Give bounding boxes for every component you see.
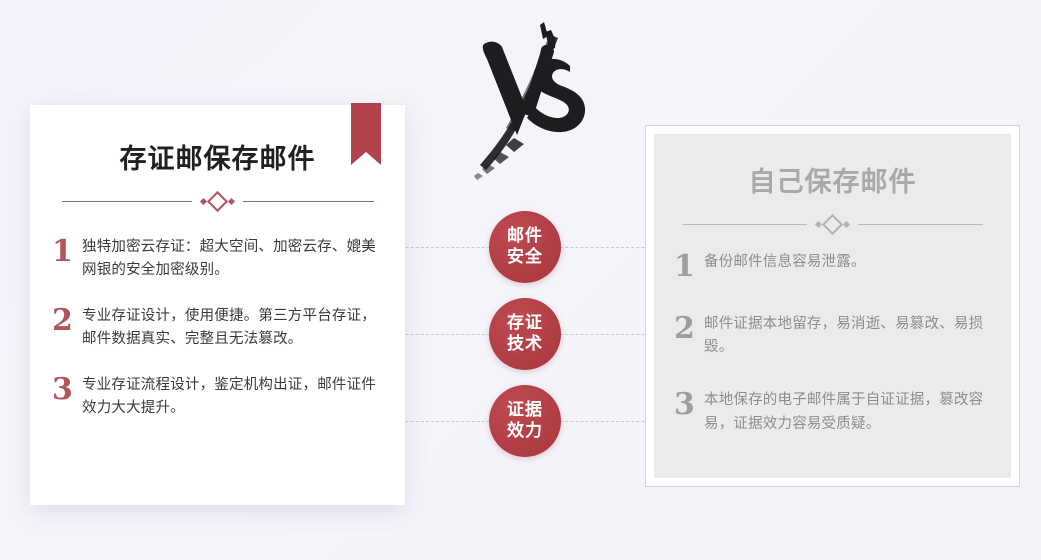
bullet-number: 3 bbox=[674, 389, 704, 421]
bullet-text: 独特加密云存证：超大空间、加密云存、媲美网银的安全加密级别。 bbox=[82, 236, 383, 283]
bullet-text: 专业存证设计，使用便捷。第三方平台存证，邮件数据真实、完整且无法篡改。 bbox=[82, 305, 383, 352]
diamond-small-icon bbox=[843, 220, 850, 227]
circle-label-line1: 证据 bbox=[507, 400, 543, 421]
list-item: 1 独特加密云存证：超大空间、加密云存、媲美网银的安全加密级别。 bbox=[52, 236, 383, 283]
circle-label-line1: 邮件 bbox=[507, 226, 543, 247]
bullet-text: 邮件证据本地留存，易消逝、易篡改、易损毁。 bbox=[704, 313, 989, 360]
list-item: 3 本地保存的电子邮件属于自证证据，篡改容易，证据效力容易受质疑。 bbox=[674, 389, 989, 436]
ornament-line-left bbox=[62, 201, 193, 202]
left-ornament-divider bbox=[62, 192, 374, 210]
center-circle-evidence-tech[interactable]: 存证 技术 bbox=[489, 298, 561, 370]
right-ornament-divider bbox=[683, 215, 983, 233]
right-card-inner-panel: 自己保存邮件 1 备份邮件信息容易泄露。 2 邮件证据本地留存，易消逝、易篡改、… bbox=[654, 134, 1011, 478]
diamond-small-icon bbox=[228, 197, 235, 204]
list-item: 1 备份邮件信息容易泄露。 bbox=[674, 251, 989, 283]
circle-label-line2: 技术 bbox=[507, 334, 543, 355]
circle-label-line2: 效力 bbox=[507, 421, 543, 442]
bullet-text: 本地保存的电子邮件属于自证证据，篡改容易，证据效力容易受质疑。 bbox=[704, 389, 989, 436]
circle-label-line1: 存证 bbox=[507, 313, 543, 334]
comparison-infographic: 存证邮保存邮件 1 独特加密云存证：超大空间、加密云存、媲美网银的安全加密级别。… bbox=[0, 0, 1041, 560]
bullet-text: 备份邮件信息容易泄露。 bbox=[704, 251, 989, 274]
ornament-diamond-group bbox=[807, 217, 858, 232]
diamond-large-icon bbox=[207, 190, 228, 211]
right-comparison-card: 自己保存邮件 1 备份邮件信息容易泄露。 2 邮件证据本地留存，易消逝、易篡改、… bbox=[645, 125, 1020, 487]
right-panel-title: 自己保存邮件 bbox=[654, 134, 1011, 199]
bullet-number: 1 bbox=[52, 236, 82, 268]
bullet-number: 3 bbox=[52, 374, 82, 406]
vs-brush-icon bbox=[470, 14, 590, 184]
right-bullet-list: 1 备份邮件信息容易泄露。 2 邮件证据本地留存，易消逝、易篡改、易损毁。 3 … bbox=[654, 233, 1011, 436]
bullet-number: 1 bbox=[674, 251, 704, 283]
list-item: 3 专业存证流程设计，鉴定机构出证，邮件证件效力大大提升。 bbox=[52, 374, 383, 421]
list-item: 2 专业存证设计，使用便捷。第三方平台存证，邮件数据真实、完整且无法篡改。 bbox=[52, 305, 383, 352]
circle-label-line2: 安全 bbox=[507, 247, 543, 268]
bullet-number: 2 bbox=[52, 305, 82, 337]
bookmark-ribbon-icon bbox=[351, 103, 381, 165]
left-panel-title: 存证邮保存邮件 bbox=[30, 105, 405, 176]
center-circle-evidence-validity[interactable]: 证据 效力 bbox=[489, 385, 561, 457]
diamond-large-icon bbox=[822, 213, 843, 234]
left-comparison-card: 存证邮保存邮件 1 独特加密云存证：超大空间、加密云存、媲美网银的安全加密级别。… bbox=[30, 105, 405, 505]
ornament-line-left bbox=[683, 224, 808, 225]
ornament-line-right bbox=[243, 201, 374, 202]
bullet-text: 专业存证流程设计，鉴定机构出证，邮件证件效力大大提升。 bbox=[82, 374, 383, 421]
ornament-diamond-group bbox=[192, 194, 243, 209]
list-item: 2 邮件证据本地留存，易消逝、易篡改、易损毁。 bbox=[674, 313, 989, 360]
left-bullet-list: 1 独特加密云存证：超大空间、加密云存、媲美网银的安全加密级别。 2 专业存证设… bbox=[30, 210, 405, 421]
ornament-line-right bbox=[858, 224, 983, 225]
center-circle-mail-security[interactable]: 邮件 安全 bbox=[489, 211, 561, 283]
bullet-number: 2 bbox=[674, 313, 704, 345]
